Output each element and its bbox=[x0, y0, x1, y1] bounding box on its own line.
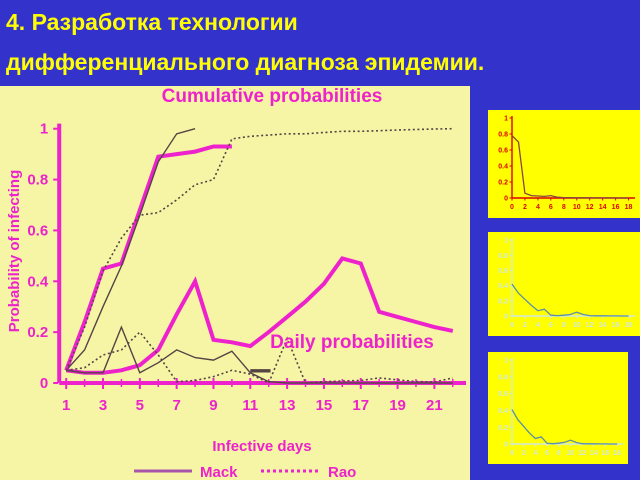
page-title: 4. Разработка технологии дифференциально… bbox=[6, 2, 640, 82]
mini-x-tick-label: 0 bbox=[510, 204, 514, 211]
mini-y-tick-label: 0.4 bbox=[498, 283, 508, 290]
y-tick-label: 0.6 bbox=[27, 222, 48, 239]
mini-x-tick-label: 10 bbox=[573, 322, 581, 329]
mini-x-tick-label: 2 bbox=[522, 450, 526, 457]
mini-y-tick-label: 0.2 bbox=[498, 298, 508, 305]
mini-chart-panel-3: 00.20.40.60.81024681012141618 bbox=[488, 352, 628, 464]
mini-chart-panel-1: 00.20.40.60.81024681012141618 bbox=[488, 110, 640, 218]
mini-x-tick-label: 16 bbox=[612, 322, 620, 329]
mini-y-tick-label: 1 bbox=[504, 116, 508, 123]
y-tick-label: 0 bbox=[40, 375, 48, 392]
mini-x-tick-label: 12 bbox=[578, 450, 586, 457]
x-tick-label: 15 bbox=[316, 397, 333, 414]
cumulative-band-title: Cumulative probabilities bbox=[162, 86, 383, 107]
mini-x-tick-label: 10 bbox=[573, 204, 581, 211]
mini-x-tick-label: 6 bbox=[545, 450, 549, 457]
x-tick-label: 1 bbox=[62, 397, 70, 414]
mini-x-tick-label: 6 bbox=[549, 204, 553, 211]
mini-y-tick-label: 0.2 bbox=[498, 180, 508, 187]
y-axis-title: Probability of infecting bbox=[6, 170, 23, 333]
mini-y-tick-label: 0.6 bbox=[498, 148, 508, 155]
mini-x-tick-label: 4 bbox=[536, 322, 540, 329]
mini-y-tick-label: 0 bbox=[504, 442, 508, 449]
mini-y-tick-label: 1 bbox=[504, 358, 508, 365]
mini-x-tick-label: 0 bbox=[510, 322, 514, 329]
mini-x-tick-label: 14 bbox=[599, 322, 607, 329]
legend-label-mack: Mack bbox=[200, 464, 238, 480]
mini-x-tick-label: 12 bbox=[586, 322, 594, 329]
mini-chart-panel-2: 00.20.40.60.81024681012141618 bbox=[488, 232, 640, 336]
mini-x-tick-label: 18 bbox=[613, 450, 621, 457]
chart-line-cumulative bbox=[66, 147, 232, 371]
main-chart-svg: 00.20.40.60.8113579111315171921Cumulativ… bbox=[0, 86, 470, 480]
x-tick-label: 7 bbox=[172, 397, 180, 414]
mini-y-tick-label: 0.4 bbox=[498, 164, 508, 171]
mini-y-tick-label: 0.8 bbox=[498, 374, 508, 381]
mini-x-tick-label: 8 bbox=[557, 450, 561, 457]
mini-x-tick-label: 2 bbox=[523, 322, 527, 329]
mini-y-tick-label: 0 bbox=[504, 314, 508, 321]
x-tick-label: 5 bbox=[136, 397, 144, 414]
y-tick-label: 0.8 bbox=[27, 172, 48, 189]
mini-chart-1-svg: 00.20.40.60.81024681012141618 bbox=[488, 110, 640, 218]
main-chart-panel: 00.20.40.60.8113579111315171921Cumulativ… bbox=[0, 86, 470, 480]
mini-x-tick-label: 0 bbox=[510, 450, 514, 457]
x-tick-label: 9 bbox=[209, 397, 217, 414]
y-tick-label: 0.2 bbox=[27, 324, 48, 341]
mini-x-tick-label: 4 bbox=[533, 450, 537, 457]
mini-x-tick-label: 18 bbox=[625, 322, 633, 329]
x-tick-label: 11 bbox=[242, 397, 258, 414]
mini-x-tick-label: 2 bbox=[523, 204, 527, 211]
mini-x-tick-label: 18 bbox=[625, 204, 633, 211]
x-tick-label: 17 bbox=[352, 397, 369, 414]
x-tick-label: 19 bbox=[389, 397, 406, 414]
mini-y-tick-label: 0.8 bbox=[498, 253, 508, 260]
daily-band-title: Daily probabilities bbox=[270, 332, 434, 353]
mini-x-tick-label: 14 bbox=[590, 450, 598, 457]
legend-label-rao: Rao bbox=[328, 464, 356, 480]
mini-y-tick-label: 0.2 bbox=[498, 425, 508, 432]
mini-x-tick-label: 8 bbox=[562, 322, 566, 329]
mini-chart-line bbox=[512, 410, 617, 444]
x-tick-label: 13 bbox=[279, 397, 296, 414]
mini-y-tick-label: 0 bbox=[504, 196, 508, 203]
chart-line-cumulative bbox=[66, 129, 195, 371]
mini-y-tick-label: 1 bbox=[504, 238, 508, 245]
mini-chart-3-svg: 00.20.40.60.81024681012141618 bbox=[488, 352, 628, 464]
mini-x-tick-label: 12 bbox=[586, 204, 594, 211]
mini-chart-line bbox=[512, 284, 629, 316]
mini-x-tick-label: 14 bbox=[599, 204, 607, 211]
mini-x-tick-label: 6 bbox=[549, 322, 553, 329]
x-axis-title: Infective days bbox=[212, 438, 311, 455]
y-tick-label: 1 bbox=[40, 121, 48, 138]
mini-y-tick-label: 0.6 bbox=[498, 391, 508, 398]
mini-y-tick-label: 0.4 bbox=[498, 408, 508, 415]
mini-y-tick-label: 0.6 bbox=[498, 268, 508, 275]
mini-x-tick-label: 16 bbox=[612, 204, 620, 211]
mini-chart-line bbox=[512, 136, 629, 198]
y-tick-label: 0.4 bbox=[27, 273, 49, 290]
mini-chart-2-svg: 00.20.40.60.81024681012141618 bbox=[488, 232, 640, 336]
x-tick-label: 3 bbox=[99, 397, 107, 414]
x-tick-label: 21 bbox=[426, 397, 443, 414]
mini-x-tick-label: 16 bbox=[602, 450, 610, 457]
mini-x-tick-label: 8 bbox=[562, 204, 566, 211]
mini-y-tick-label: 0.8 bbox=[498, 132, 508, 139]
mini-x-tick-label: 4 bbox=[536, 204, 540, 211]
mini-x-tick-label: 10 bbox=[567, 450, 575, 457]
chart-line-daily bbox=[66, 258, 453, 372]
